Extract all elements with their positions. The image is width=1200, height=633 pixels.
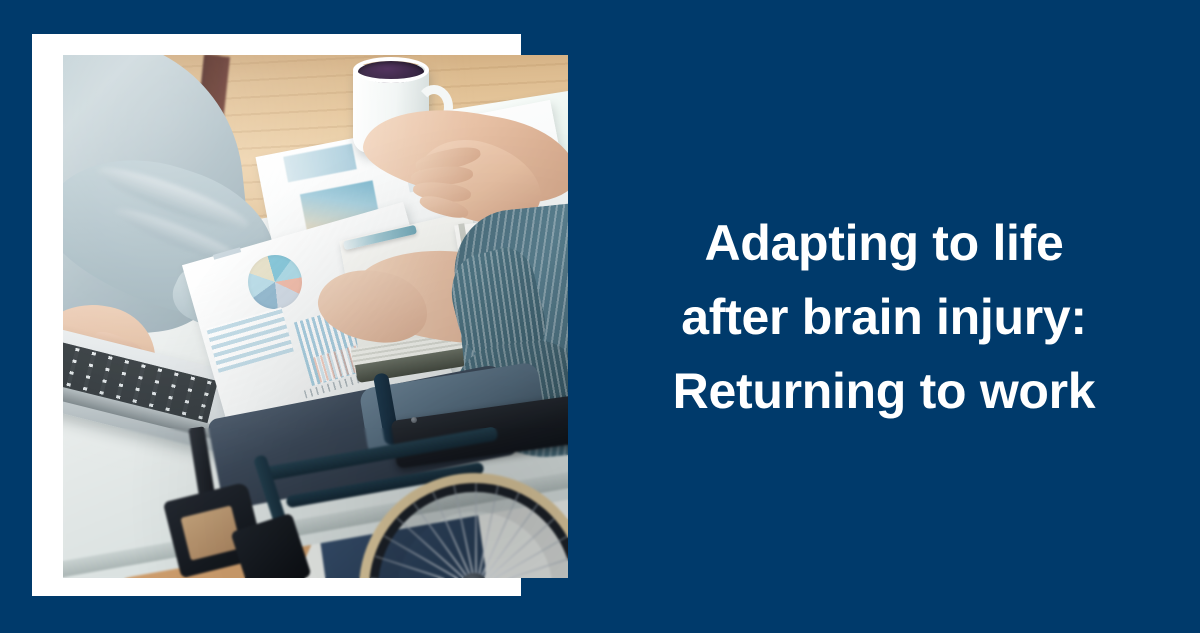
title-line-1: Adapting to life bbox=[704, 206, 1063, 280]
photo-scene bbox=[63, 55, 568, 578]
title-line-3: Returning to work bbox=[673, 354, 1096, 428]
title-line-2: after brain injury: bbox=[681, 280, 1086, 354]
wheel-spoke bbox=[397, 517, 477, 578]
mug-rim bbox=[353, 57, 429, 83]
header-photo bbox=[63, 55, 568, 578]
banner-title: Adapting to life after brain injury: Ret… bbox=[568, 0, 1200, 633]
article-header-banner: Adapting to life after brain injury: Ret… bbox=[0, 0, 1200, 633]
wheel-spoke bbox=[475, 483, 477, 578]
armrest-screw bbox=[411, 417, 417, 423]
